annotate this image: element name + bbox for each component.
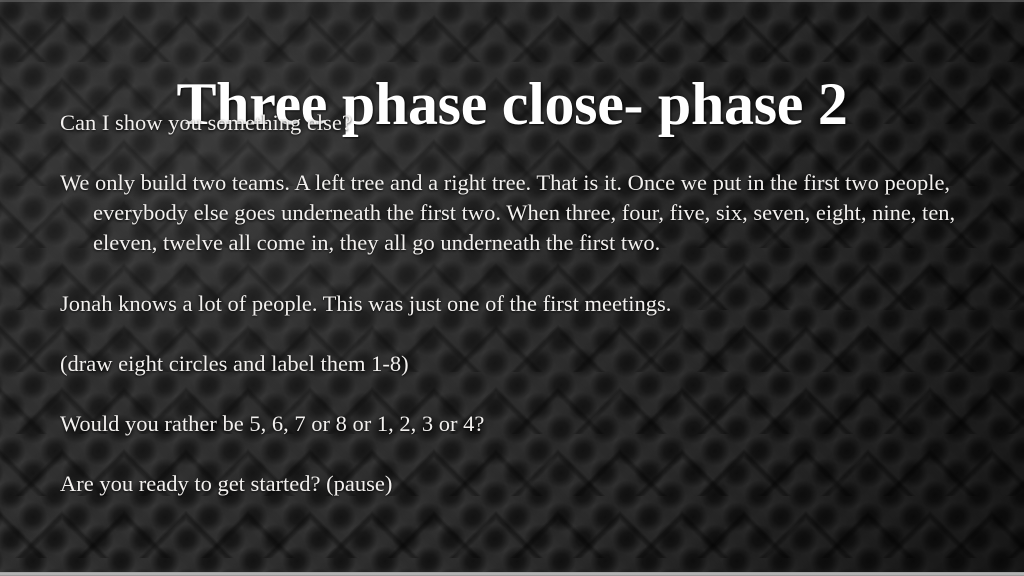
body-paragraph: (draw eight circles and label them 1-8) bbox=[60, 349, 980, 379]
presentation-slide: Three phase close- phase 2 Can I show yo… bbox=[0, 0, 1024, 576]
body-spacer bbox=[60, 259, 980, 289]
body-paragraph: Would you rather be 5, 6, 7 or 8 or 1, 2… bbox=[60, 409, 980, 439]
body-paragraph: Can I show you something else? bbox=[60, 108, 980, 138]
slide-body-text: Can I show you something else? We only b… bbox=[60, 108, 980, 499]
body-spacer bbox=[60, 319, 980, 349]
body-spacer bbox=[60, 379, 980, 409]
body-spacer bbox=[60, 138, 980, 168]
body-paragraph: Jonah knows a lot of people. This was ju… bbox=[60, 289, 980, 319]
slide-content: Three phase close- phase 2 Can I show yo… bbox=[0, 0, 1024, 576]
body-paragraph: Are you ready to get started? (pause) bbox=[60, 469, 980, 499]
body-paragraph: We only build two teams. A left tree and… bbox=[60, 168, 980, 258]
body-spacer bbox=[60, 439, 980, 469]
